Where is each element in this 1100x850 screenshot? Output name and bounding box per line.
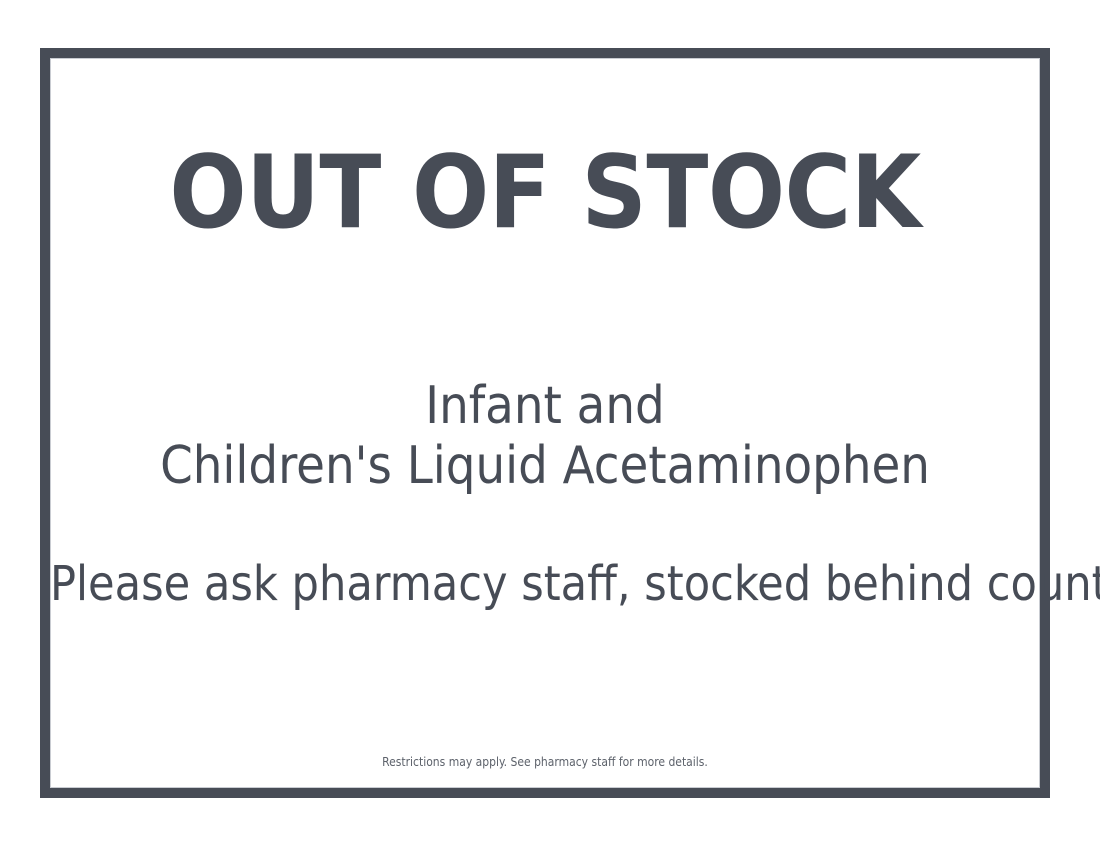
sign-content: OUT OF STOCK Infant and Children's Liqui… (50, 58, 1040, 788)
product-name-line-2: Children's Liquid Acetaminophen (50, 436, 1040, 496)
sign-border-frame: OUT OF STOCK Infant and Children's Liqui… (40, 48, 1050, 798)
footnote-text: Restrictions may apply. See pharmacy sta… (50, 754, 1040, 770)
page-title: OUT OF STOCK (50, 142, 1040, 243)
instruction-text: Please ask pharmacy staff, stocked behin… (50, 556, 1040, 612)
sign-canvas: OUT OF STOCK Infant and Children's Liqui… (0, 0, 1100, 850)
product-name-line-1: Infant and (50, 376, 1040, 436)
product-name-block: Infant and Children's Liquid Acetaminoph… (50, 376, 1040, 496)
